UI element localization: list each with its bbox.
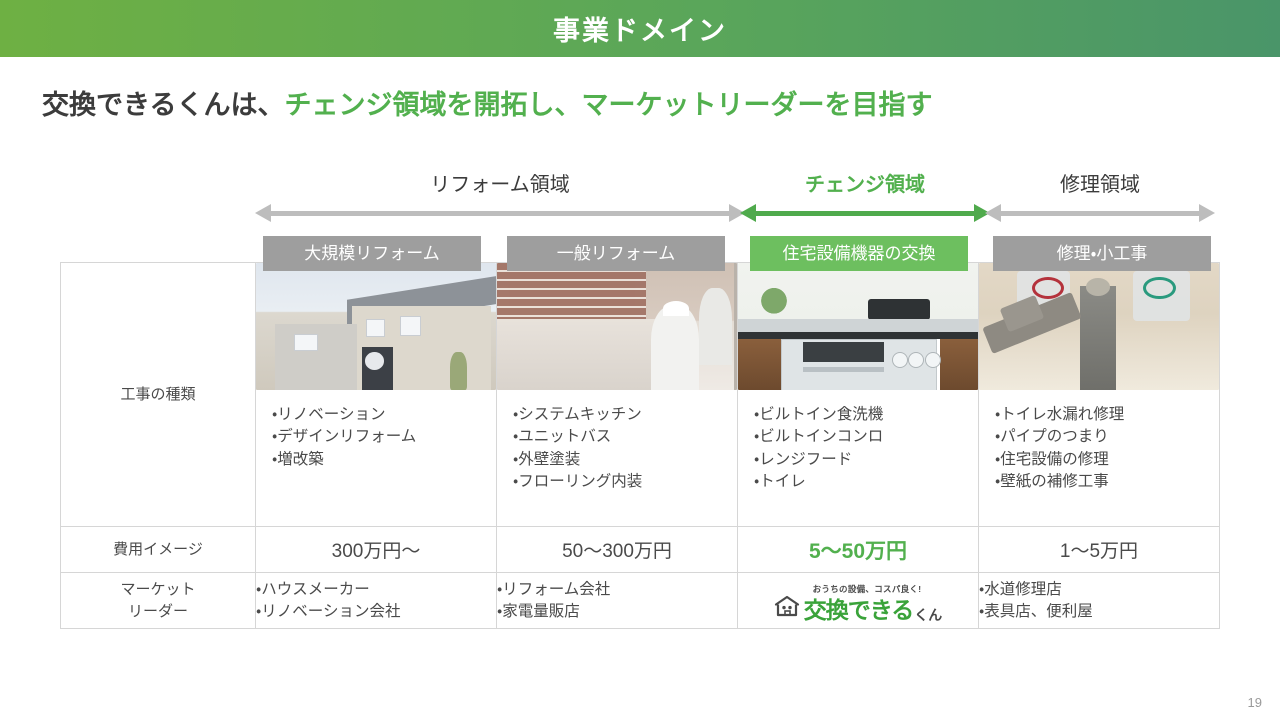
- slide-title-bar: 事業ドメイン: [0, 0, 1280, 57]
- column-caption-3: 修理・小工事: [993, 236, 1211, 271]
- cell-work-type-0: ・リノベーション ・デザインリフォーム ・増改築: [256, 263, 497, 527]
- arrow-shaft: [754, 211, 976, 216]
- leader-list-1: ・リフォーム会社 ・家電量販店: [497, 573, 738, 629]
- wall-painting-photo: [497, 263, 737, 390]
- house-exterior-photo: [256, 263, 496, 390]
- column-caption-2: 住宅設備機器の交換: [750, 236, 968, 271]
- leader-list-3: ・水道修理店 ・表具店、便利屋: [979, 573, 1220, 629]
- table-row-market-leader: マーケット リーダー ・ハウスメーカー ・リノベーション会社 ・リフォーム会社 …: [61, 573, 1220, 629]
- band-reform: リフォーム領域: [255, 168, 745, 224]
- cell-work-type-3: ・トイレ水漏れ修理 ・パイプのつまり ・住宅設備の修理 ・壁紙の補修工事: [979, 263, 1220, 527]
- list-item: ・外壁塗装: [513, 449, 737, 471]
- row-label-market-leader: マーケット リーダー: [61, 573, 256, 629]
- list-item: ・壁紙の補修工事: [995, 471, 1219, 493]
- work-type-items-2: ・ビルトイン食洗機 ・ビルトインコンロ ・レンジフード ・トイレ: [738, 390, 978, 494]
- work-type-items-1: ・システムキッチン ・ユニットバス ・外壁塗装 ・フローリング内装: [497, 390, 737, 494]
- list-item: ・リノベーション会社: [256, 601, 496, 623]
- house-icon: [774, 595, 800, 621]
- work-type-items-3: ・トイレ水漏れ修理 ・パイプのつまり ・住宅設備の修理 ・壁紙の補修工事: [979, 390, 1219, 494]
- column-caption-0: 大規模リフォーム: [263, 236, 481, 271]
- list-item: ・増改築: [272, 449, 496, 471]
- list-item: ・システムキッチン: [513, 404, 737, 426]
- logo-suffix: くん: [914, 608, 942, 622]
- arrow-shaft: [999, 211, 1201, 216]
- lead-sentence: 交換できるくんは、チェンジ領域を開拓し、マーケットリーダーを目指す: [42, 83, 932, 122]
- page-number: 19: [1248, 695, 1262, 710]
- list-item: ・ユニットバス: [513, 426, 737, 448]
- list-item: ・デザインリフォーム: [272, 426, 496, 448]
- list-item: ・トイレ: [754, 471, 978, 493]
- business-domain-table: 工事の種類 ・リノベーション ・デザインリフォーム ・増改築: [60, 262, 1220, 629]
- list-item: ・ビルトイン食洗機: [754, 404, 978, 426]
- band-label-repair: 修理領域: [985, 168, 1215, 197]
- change-range-arrow: [740, 202, 990, 224]
- table-row-work-type: 工事の種類 ・リノベーション ・デザインリフォーム ・増改築: [61, 263, 1220, 527]
- lead-plain-text: 交換できるくんは、: [42, 90, 284, 120]
- lead-highlight-text: チェンジ領域を開拓し、マーケットリーダーを目指す: [284, 90, 932, 120]
- row-label-market-leader-line1: マーケット: [61, 579, 255, 601]
- list-item: ・レンジフード: [754, 449, 978, 471]
- list-item: ・リノベーション: [272, 404, 496, 426]
- band-change: チェンジ領域: [740, 168, 990, 224]
- faucet-repair-photo: [979, 263, 1219, 390]
- band-label-reform: リフォーム領域: [255, 168, 745, 197]
- work-type-items-0: ・リノベーション ・デザインリフォーム ・増改築: [256, 390, 496, 471]
- list-item: ・フローリング内装: [513, 471, 737, 493]
- list-item: ・リフォーム会社: [497, 579, 737, 601]
- list-item: ・ビルトインコンロ: [754, 426, 978, 448]
- repair-range-arrow: [985, 202, 1215, 224]
- list-item: ・ハウスメーカー: [256, 579, 496, 601]
- cost-value-3: 1〜5万円: [979, 527, 1220, 573]
- row-label-market-leader-line2: リーダー: [61, 601, 255, 623]
- logo-wordmark: 交換できる: [804, 599, 914, 622]
- list-item: ・パイプのつまり: [995, 426, 1219, 448]
- leader-logo-cell: おうちの設備、コスパ良く! 交換できる くん: [738, 573, 979, 629]
- list-item: ・トイレ水漏れ修理: [995, 404, 1219, 426]
- arrow-shaft: [269, 211, 731, 216]
- list-item: ・住宅設備の修理: [995, 449, 1219, 471]
- row-label-cost: 費用イメージ: [61, 527, 256, 573]
- band-label-change: チェンジ領域: [740, 168, 990, 197]
- cell-work-type-1: ・システムキッチン ・ユニットバス ・外壁塗装 ・フローリング内装: [497, 263, 738, 527]
- band-repair: 修理領域: [985, 168, 1215, 224]
- cell-work-type-2: ・ビルトイン食洗機 ・ビルトインコンロ ・レンジフード ・トイレ: [738, 263, 979, 527]
- reform-range-arrow: [255, 202, 745, 224]
- cost-value-1: 50〜300万円: [497, 527, 738, 573]
- leader-list-0: ・ハウスメーカー ・リノベーション会社: [256, 573, 497, 629]
- list-item: ・家電量販店: [497, 601, 737, 623]
- cost-value-2: 5〜50万円: [738, 527, 979, 573]
- arrow-head-right-icon: [1199, 204, 1215, 222]
- list-item: ・表具店、便利屋: [979, 601, 1219, 623]
- kitchen-appliance-photo: [738, 263, 978, 390]
- list-item: ・水道修理店: [979, 579, 1219, 601]
- logo-tagline: おうちの設備、コスパ良く!: [813, 585, 922, 594]
- slide-title: 事業ドメイン: [553, 9, 727, 48]
- column-caption-1: 一般リフォーム: [507, 236, 725, 271]
- row-label-work-type: 工事の種類: [61, 263, 256, 527]
- table-row-cost: 費用イメージ 300万円〜 50〜300万円 5〜50万円 1〜5万円: [61, 527, 1220, 573]
- cost-value-0: 300万円〜: [256, 527, 497, 573]
- kokan-dekirukun-logo: おうちの設備、コスパ良く! 交換できる くん: [774, 585, 943, 623]
